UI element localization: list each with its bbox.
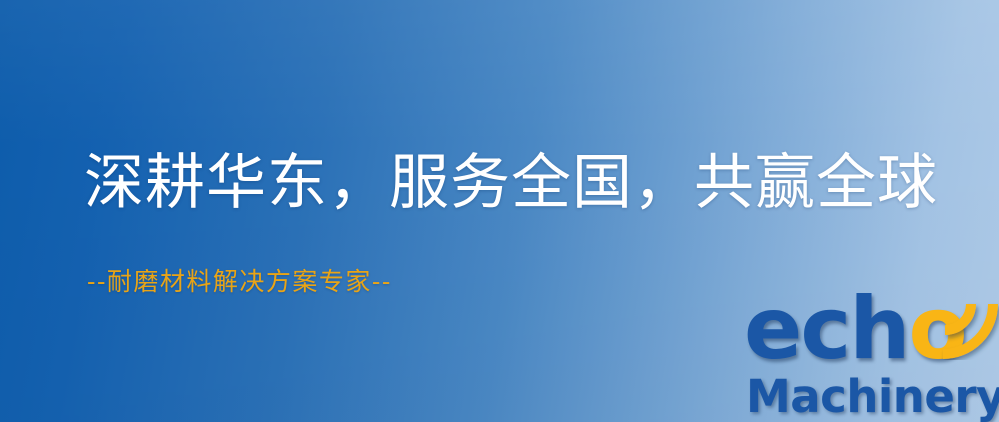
promo-banner: 深耕华东，服务全国，共赢全球 --耐磨材料解决方案专家-- echo Machi… [0,0,999,422]
company-logo[interactable]: echo Machinery® [742,292,999,422]
logo-wordmark: echo [742,292,999,378]
banner-subheadline: --耐磨材料解决方案专家-- [87,268,392,296]
logo-machinery-text: Machinery [746,370,999,422]
banner-headline: 深耕华东，服务全国，共赢全球 [84,152,938,215]
logo-echo-prefix: ech [744,279,909,379]
echo-wave-icon [929,290,999,360]
logo-company-name: Machinery® [746,374,999,419]
